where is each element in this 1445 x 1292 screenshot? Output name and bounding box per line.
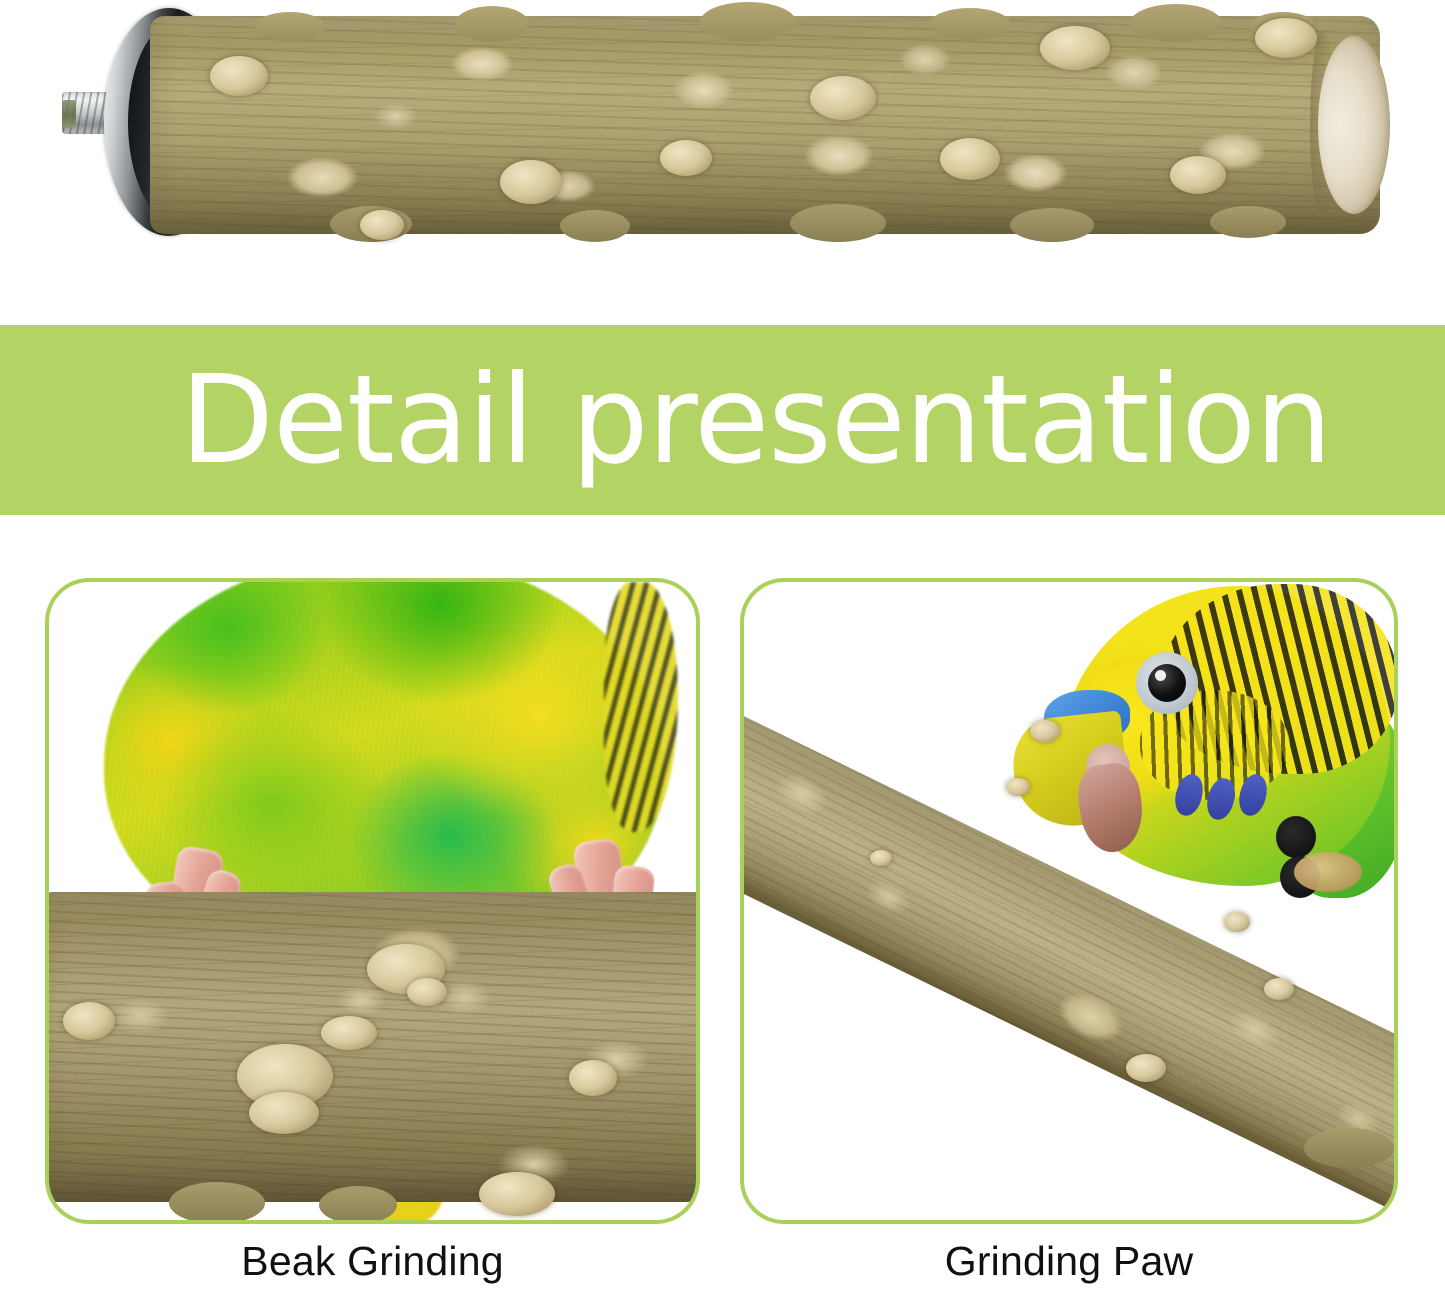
bark-knob [1010, 208, 1094, 242]
bark-knob [455, 6, 529, 42]
wood-knot [569, 1060, 617, 1096]
photo-frame-right [740, 578, 1398, 1224]
bark-knob [790, 204, 886, 242]
caption-beak-grinding: Beak Grinding [45, 1238, 700, 1285]
wood-knot [210, 56, 268, 96]
wood-knot [1030, 720, 1060, 742]
screw-thread-tip-icon [62, 100, 76, 128]
budgie-throat-spot [1276, 816, 1316, 858]
wood-knot [63, 1002, 115, 1040]
wood-knot [1006, 778, 1030, 796]
bark-knob [1304, 1128, 1394, 1168]
wood-perch-closeup [45, 892, 700, 1202]
panel-grinding-paw: Grinding Paw [740, 578, 1398, 1285]
wood-knot [249, 1092, 319, 1134]
bark-knob [930, 8, 1010, 40]
wood-knot [321, 1016, 377, 1050]
bark-knob [255, 12, 325, 42]
wood-knot [810, 76, 876, 120]
wood-knot [1224, 912, 1250, 932]
banner-title: Detail presentation [180, 359, 1331, 481]
feature-panels: Beak Grinding [0, 578, 1445, 1292]
budgie-eye-glint [1155, 670, 1166, 681]
wood-knot [1255, 18, 1317, 58]
wood-knot [479, 1172, 555, 1216]
hero-photo-stage [0, 0, 1445, 300]
hero-product-photo [0, 0, 1445, 300]
wood-knot [940, 138, 1000, 180]
caption-grinding-paw: Grinding Paw [740, 1238, 1398, 1285]
wood-knot [1126, 1054, 1166, 1082]
bark-knob [319, 1186, 397, 1224]
wood-knot [1170, 156, 1226, 194]
budgie-wing-barring [604, 582, 678, 832]
wood-knot [1264, 978, 1294, 1000]
budgie-eye-pupil [1148, 664, 1186, 702]
section-banner: Detail presentation [0, 325, 1445, 515]
wood-knot [1040, 26, 1110, 70]
photo-frame-left [45, 578, 700, 1224]
wood-knot [407, 978, 447, 1006]
wood-knot [360, 210, 404, 240]
product-infographic-page: Detail presentation [0, 0, 1445, 1292]
perch-cut-end-face [1318, 36, 1390, 214]
wood-knot [500, 160, 562, 204]
bark-knob [169, 1182, 265, 1224]
panel-beak-grinding: Beak Grinding [45, 578, 700, 1285]
bark-knob [1210, 206, 1286, 238]
bark-knob [560, 210, 630, 242]
budgie-head [1008, 578, 1398, 908]
budgie-chest-seed [1294, 852, 1362, 892]
bark-knob [1130, 4, 1222, 42]
wood-knot [870, 850, 892, 866]
wood-knot [660, 140, 712, 176]
wood-perch-body [150, 16, 1380, 234]
bark-knob [700, 2, 796, 42]
